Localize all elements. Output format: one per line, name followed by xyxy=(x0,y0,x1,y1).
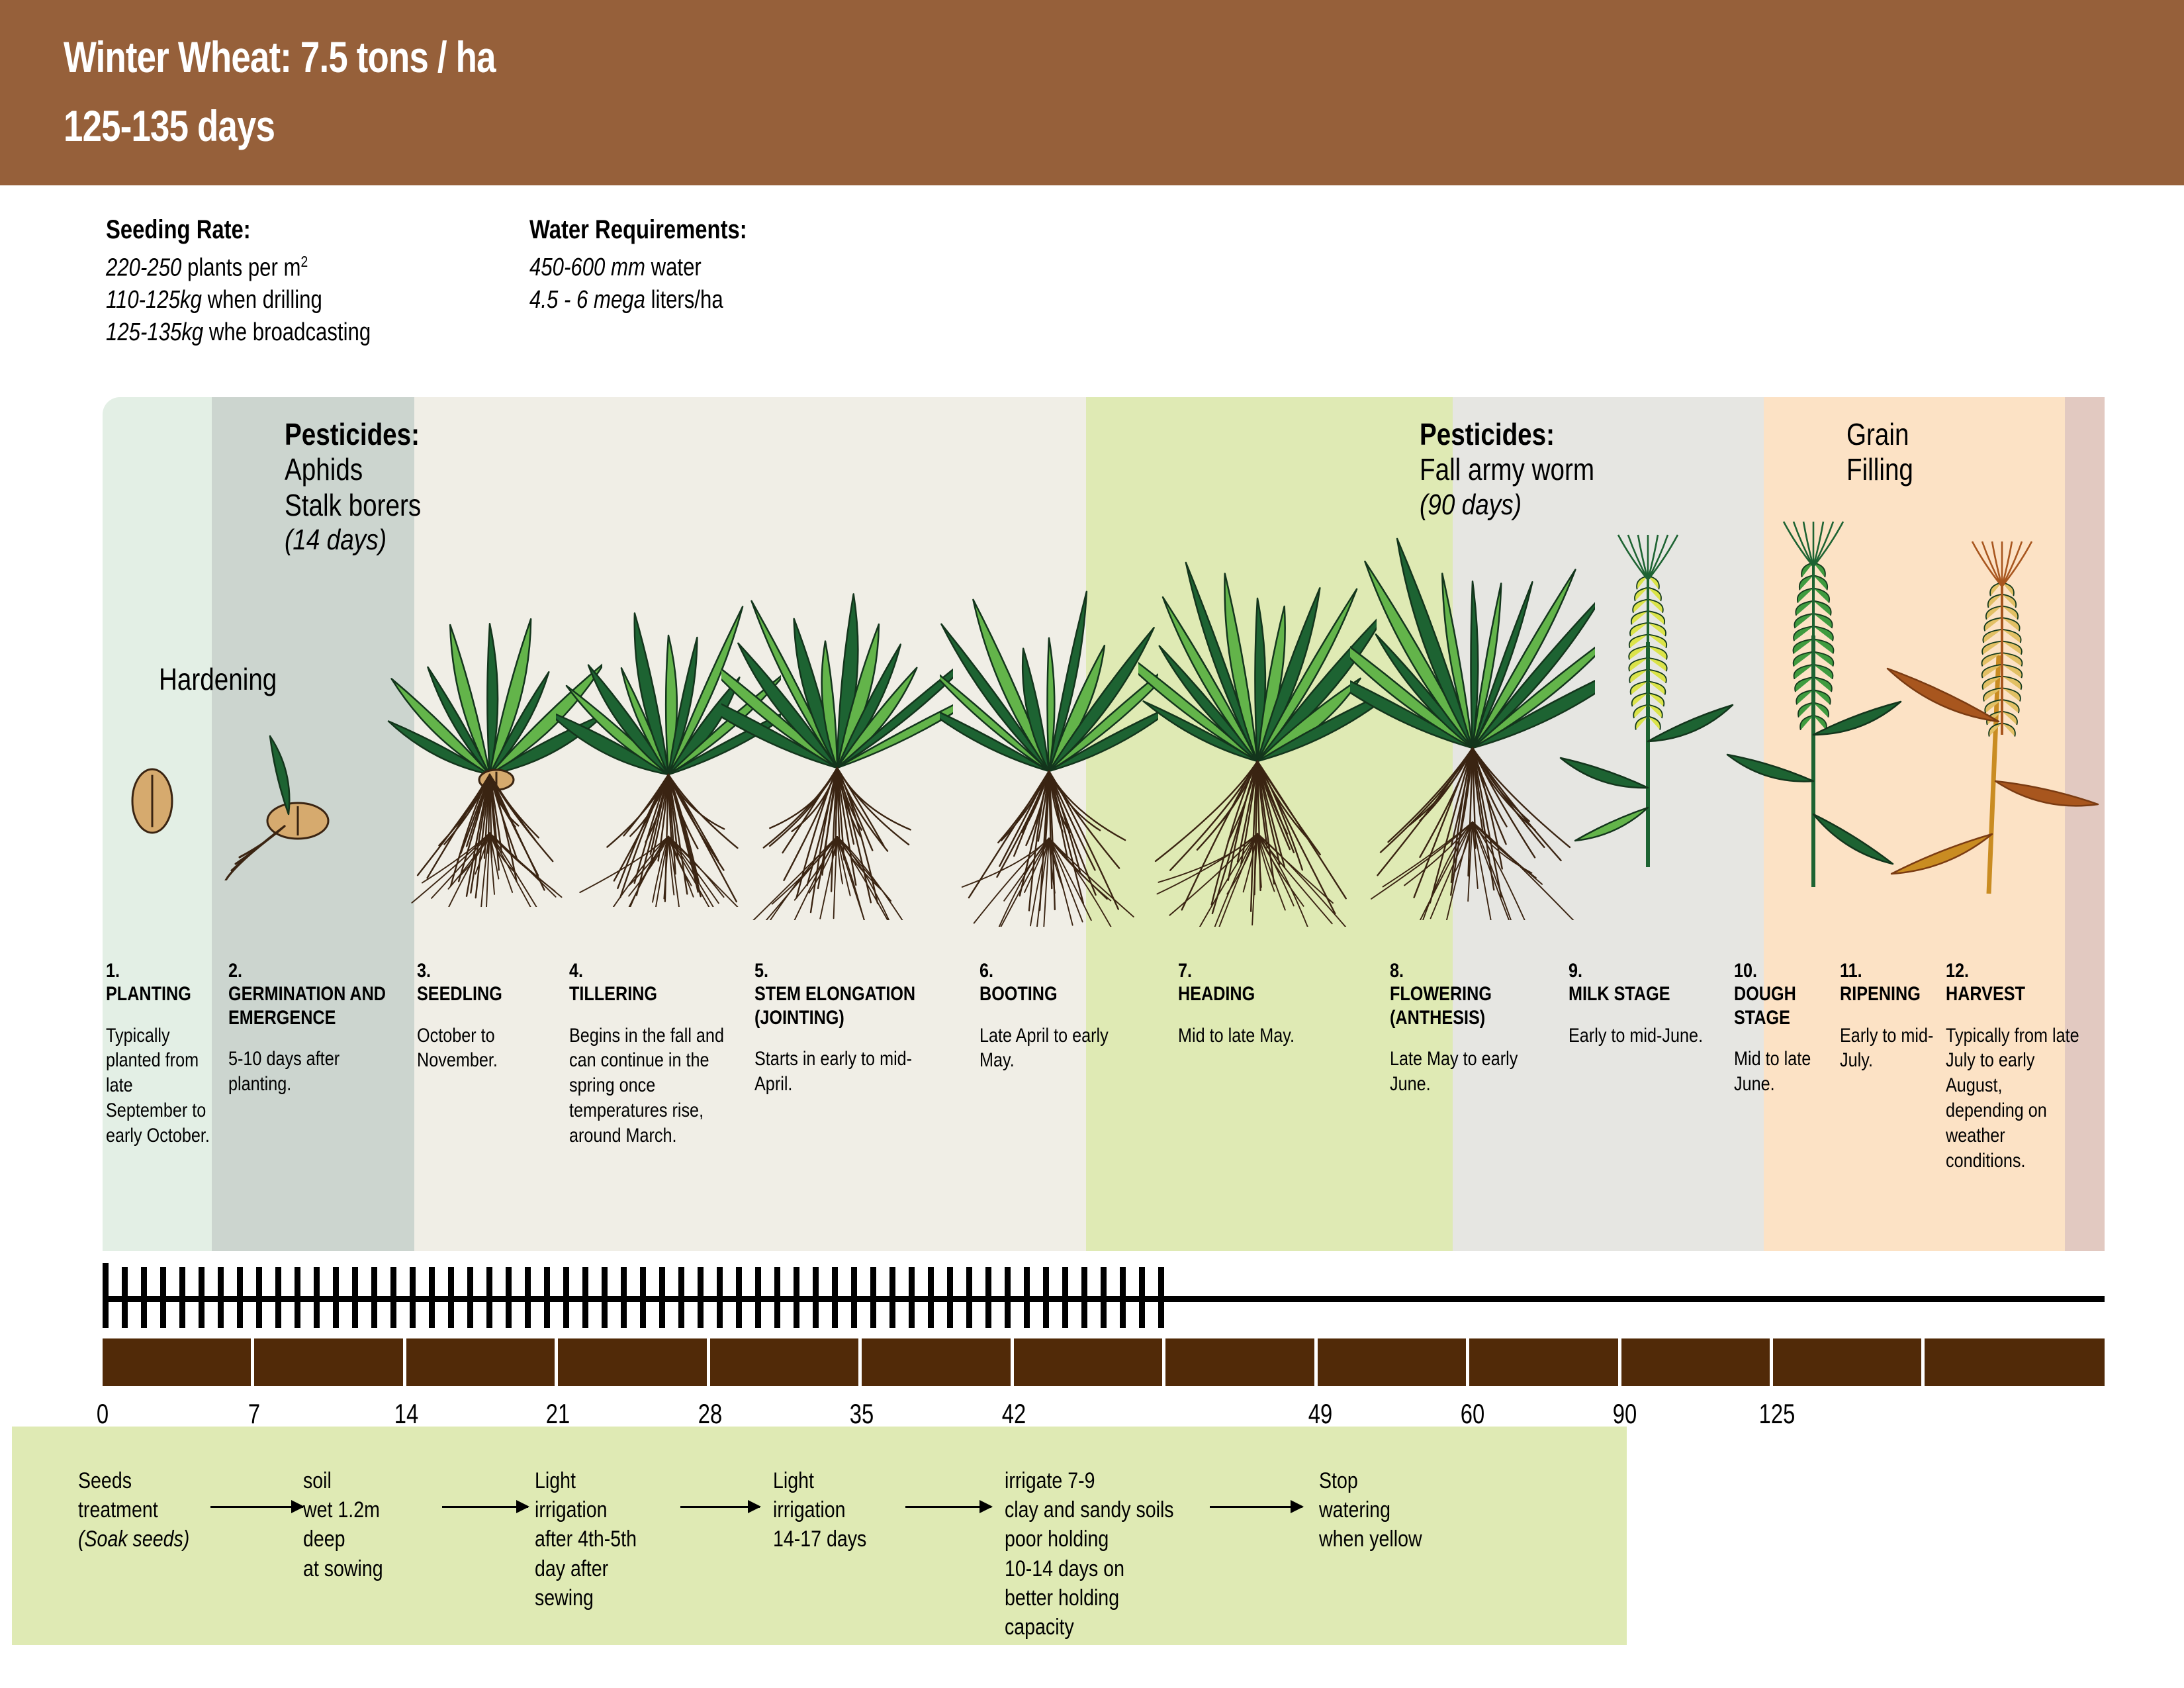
ruler-tick xyxy=(1043,1267,1049,1297)
stage-description: Early to mid-July. xyxy=(1840,1023,1942,1074)
seeding-rate-title: Seeding Rate: xyxy=(106,215,371,245)
ruler-tick xyxy=(602,1267,608,1297)
ruler-tick xyxy=(141,1267,147,1297)
hardening-label: Hardening xyxy=(159,662,277,697)
ruler-tick xyxy=(889,1300,895,1328)
stage-name: BOOTING xyxy=(979,982,1145,1006)
flow-arrow-icon xyxy=(905,1506,991,1508)
wheat-heading-illustration xyxy=(1138,530,1377,927)
ruler-tick xyxy=(678,1267,684,1297)
ruler-tick xyxy=(141,1300,147,1328)
ruler-tick xyxy=(985,1300,991,1328)
annotation-pesticides-early: Pesticides: Aphids Stalk borers (14 days… xyxy=(285,417,447,557)
ruler-tick xyxy=(275,1267,281,1297)
stage-description: Late April to early May. xyxy=(979,1023,1145,1074)
flow-step-line: irrigate 7-9 xyxy=(1005,1466,1174,1495)
ruler-tick xyxy=(199,1267,205,1297)
stage-description: Early to mid-June. xyxy=(1569,1023,1721,1049)
ruler-tick xyxy=(218,1267,224,1297)
ruler-tick xyxy=(352,1267,358,1297)
stage-name: HEADING xyxy=(1178,982,1363,1006)
ruler-tick xyxy=(160,1300,166,1328)
stage-name: FLOWERING (ANTHESIS) xyxy=(1390,982,1552,1029)
flow-step-line: when yellow xyxy=(1319,1524,1422,1554)
flow-arrow-icon xyxy=(210,1506,303,1508)
water-requirements-block: Water Requirements: 450-600 mm water4.5 … xyxy=(529,215,795,316)
ruler-tick xyxy=(218,1300,224,1328)
stage-description: Begins in the fall and can continue in t… xyxy=(569,1023,735,1149)
ruler-tick xyxy=(1024,1300,1030,1328)
wheat-seed-illustration xyxy=(113,748,192,854)
ruler-tick xyxy=(794,1300,799,1328)
ruler-tick xyxy=(1081,1300,1087,1328)
water-requirements-title: Water Requirements: xyxy=(529,215,747,245)
stage-number: 6. xyxy=(979,960,1145,982)
ruler-tick xyxy=(275,1300,281,1328)
stage-name: GERMINATION AND EMERGENCE xyxy=(228,982,394,1029)
flow-step-line: better holding xyxy=(1005,1583,1174,1613)
ruler-tick xyxy=(506,1267,512,1297)
ruler-tick xyxy=(314,1300,320,1328)
ruler-tick xyxy=(1005,1267,1011,1297)
ruler-tick xyxy=(563,1267,569,1297)
ruler-tick xyxy=(602,1300,608,1328)
ruler-tick xyxy=(467,1267,473,1297)
stage-column: 10.DOUGH STAGEMid to late June. xyxy=(1734,960,1852,1097)
ruler-tick xyxy=(544,1300,550,1328)
flow-step-line: soil xyxy=(303,1466,383,1495)
axis-tick-label: 49 xyxy=(1308,1398,1332,1430)
stage-column: 5.STEM ELONGATION (JOINTING)Starts in ea… xyxy=(754,960,983,1097)
ruler-tick xyxy=(717,1300,723,1328)
ruler-tick xyxy=(870,1300,876,1328)
ruler-tick xyxy=(525,1267,531,1297)
grain-filling-line2: Filling xyxy=(1846,452,1913,487)
ruler-tick xyxy=(1120,1267,1126,1297)
ruler-tick xyxy=(179,1267,185,1297)
ruler-tick xyxy=(295,1267,300,1297)
seeding-rate-lines: 220-250 plants per m2110-125kg when dril… xyxy=(106,252,429,349)
ruler-tick xyxy=(1081,1267,1087,1297)
ruler-tick xyxy=(486,1267,492,1297)
pesticides-early-title: Pesticides: xyxy=(285,417,421,452)
ruler-tick xyxy=(333,1300,339,1328)
stage-name: MILK STAGE xyxy=(1569,982,1721,1006)
stage-description: Starts in early to mid-April. xyxy=(754,1047,946,1097)
timeline-segment xyxy=(710,1338,858,1386)
ruler-tick xyxy=(256,1267,262,1297)
ruler-tick xyxy=(928,1300,934,1328)
ruler-tick xyxy=(1101,1300,1107,1328)
ruler-tick xyxy=(966,1267,972,1297)
header-banner: Winter Wheat: 7.5 tons / ha 125-135 days xyxy=(0,0,2184,185)
ruler-tick xyxy=(851,1267,857,1297)
stage-column: 7.HEADINGMid to late May. xyxy=(1178,960,1398,1048)
stage-name: TILLERING xyxy=(569,982,735,1006)
flow-step-line: day after xyxy=(535,1554,637,1583)
axis-tick-label: 35 xyxy=(850,1398,874,1430)
spec-line: 220-250 plants per m2 xyxy=(106,252,371,284)
stage-column: 3.SEEDLINGOctober to November. xyxy=(417,960,586,1073)
spec-line: 450-600 mm water xyxy=(529,252,747,284)
pesticides-early-item1: Aphids xyxy=(285,452,421,487)
ruler-tick xyxy=(448,1267,454,1297)
timeline-segment xyxy=(406,1338,555,1386)
ruler-tick xyxy=(1062,1267,1068,1297)
seeding-rate-block: Seeding Rate: 220-250 plants per m2110-1… xyxy=(106,215,429,349)
stage-number: 2. xyxy=(228,960,394,982)
ruler-tick xyxy=(1139,1300,1145,1328)
ruler-tick xyxy=(717,1267,723,1297)
ruler-tick xyxy=(909,1300,915,1328)
stage-number: 3. xyxy=(417,960,559,982)
ruler-tick xyxy=(659,1267,665,1297)
ruler-tick xyxy=(621,1300,627,1328)
ruler-tick xyxy=(1158,1300,1164,1328)
ruler-tick xyxy=(1158,1267,1164,1297)
ruler-tick xyxy=(448,1300,454,1328)
ruler-tick xyxy=(467,1300,473,1328)
pesticides-late-item1: Fall army worm xyxy=(1420,452,1594,487)
ruler-tick xyxy=(237,1267,243,1297)
spec-line: 110-125kg when drilling xyxy=(106,284,371,316)
ruler-tick xyxy=(889,1267,895,1297)
irrigation-flow-panel: Seedstreatment(Soak seeds)soilwet 1.2mde… xyxy=(12,1427,1627,1645)
stage-description: Mid to late June. xyxy=(1734,1047,1833,1097)
flow-step-line: after 4th-5th xyxy=(535,1524,637,1554)
ruler-tick xyxy=(774,1267,780,1297)
stage-description: Mid to late May. xyxy=(1178,1023,1363,1049)
timeline-segment xyxy=(1925,1338,2105,1386)
flow-step-line: sewing xyxy=(535,1583,637,1613)
pesticides-early-item2: Stalk borers xyxy=(285,488,421,523)
ruler-tick xyxy=(160,1267,166,1297)
stage-number: 12. xyxy=(1946,960,2085,982)
axis-tick-label: 125 xyxy=(1759,1398,1796,1430)
ruler-tick xyxy=(755,1300,761,1328)
flow-step-line: clay and sandy soils xyxy=(1005,1495,1174,1524)
annotation-hardening: Hardening xyxy=(159,662,299,697)
ruler-tick xyxy=(1120,1300,1126,1328)
timeline-segment xyxy=(1621,1338,1770,1386)
ruler-tick xyxy=(199,1300,205,1328)
stage-description: Late May to early June. xyxy=(1390,1047,1552,1097)
wheat-stem-elongation-illustration xyxy=(721,549,953,920)
flow-step-line: irrigation xyxy=(535,1495,637,1524)
flow-step-line: Light xyxy=(535,1466,637,1495)
axis-tick-label: 60 xyxy=(1461,1398,1484,1430)
ruler-tick xyxy=(966,1300,972,1328)
flow-step-line: irrigation xyxy=(773,1495,866,1524)
wheat-booting-illustration xyxy=(940,556,1158,927)
stage-name: SEEDLING xyxy=(417,982,559,1006)
ruler-tick xyxy=(333,1267,339,1297)
ruler-tick xyxy=(563,1300,569,1328)
timeline-ruler: 071421283542496090125 xyxy=(103,1258,2108,1410)
stage-name: RIPENING xyxy=(1840,982,1942,1006)
stage-column: 11.RIPENINGEarly to mid-July. xyxy=(1840,960,1962,1073)
ruler-tick xyxy=(698,1267,704,1297)
ruler-tick xyxy=(1024,1267,1030,1297)
timeline-segment xyxy=(1014,1338,1162,1386)
timeline-segment xyxy=(558,1338,707,1386)
flow-arrow-icon xyxy=(1210,1506,1302,1508)
ruler-tick xyxy=(256,1300,262,1328)
stage-number: 9. xyxy=(1569,960,1721,982)
ruler-tick xyxy=(755,1267,761,1297)
ruler-tick xyxy=(1005,1300,1011,1328)
ruler-tick xyxy=(640,1267,646,1297)
ruler-tick xyxy=(985,1267,991,1297)
annotation-grain-filling: Grain Filling xyxy=(1846,417,1926,488)
flow-step: Seedstreatment(Soak seeds) xyxy=(78,1466,189,1554)
stage-number: 10. xyxy=(1734,960,1833,982)
ruler-tick xyxy=(486,1300,492,1328)
stage-description: Typically from late July to early August… xyxy=(1946,1023,2085,1174)
ruler-tick xyxy=(621,1267,627,1297)
stage-description: 5-10 days after planting. xyxy=(228,1047,394,1097)
stage-name: PLANTING xyxy=(106,982,218,1006)
flow-step-line: Light xyxy=(773,1466,866,1495)
axis-tick-label: 42 xyxy=(1002,1398,1026,1430)
spec-line: 125-135kg whe broadcasting xyxy=(106,316,371,349)
ruler-tick xyxy=(390,1267,396,1297)
ruler-tick xyxy=(1101,1267,1107,1297)
grain-filling-line1: Grain xyxy=(1846,417,1913,452)
flow-step: Lightirrigation14-17 days xyxy=(773,1466,866,1554)
wheat-harvest-illustration xyxy=(1873,503,2111,914)
stage-number: 5. xyxy=(754,960,946,982)
ruler-tick xyxy=(237,1300,243,1328)
timeline-segment xyxy=(1773,1338,1921,1386)
stage-column: 9.MILK STAGEEarly to mid-June. xyxy=(1569,960,1750,1048)
flow-step-line: capacity xyxy=(1005,1613,1174,1642)
flow-step-note: (Soak seeds) xyxy=(78,1524,189,1554)
ruler-tick xyxy=(122,1300,128,1328)
ruler-tick xyxy=(390,1300,396,1328)
ruler-tick xyxy=(103,1263,109,1301)
stage-column: 1.PLANTINGTypically planted from late Se… xyxy=(106,960,240,1149)
stage-name: HARVEST xyxy=(1946,982,2085,1006)
ruler-tick xyxy=(1139,1267,1145,1297)
axis-tick-label: 14 xyxy=(394,1398,418,1430)
ruler-tick xyxy=(314,1267,320,1297)
page-title: Winter Wheat: 7.5 tons / ha xyxy=(64,32,496,83)
stage-column: 6.BOOTINGLate April to early May. xyxy=(979,960,1177,1073)
stage-number: 1. xyxy=(106,960,218,982)
ruler-tick xyxy=(794,1267,799,1297)
flow-step-line: Seeds xyxy=(78,1466,189,1495)
stage-number: 8. xyxy=(1390,960,1552,982)
ruler-tick xyxy=(947,1300,953,1328)
ruler-tick xyxy=(928,1267,934,1297)
flow-step-line: Stop xyxy=(1319,1466,1422,1495)
flow-step: soilwet 1.2mdeepat sowing xyxy=(303,1466,383,1583)
pesticides-late-title: Pesticides: xyxy=(1420,417,1594,452)
ruler-tick xyxy=(909,1267,915,1297)
ruler-tick xyxy=(544,1267,550,1297)
spec-line: 4.5 - 6 mega liters/ha xyxy=(529,284,747,316)
stage-number: 7. xyxy=(1178,960,1363,982)
axis-tick-label: 28 xyxy=(698,1398,722,1430)
pesticides-late-duration: (90 days) xyxy=(1420,488,1594,522)
flow-step-line: treatment xyxy=(78,1495,189,1524)
ruler-tick xyxy=(947,1267,953,1297)
ruler-tick xyxy=(870,1267,876,1297)
ruler-tick xyxy=(179,1300,185,1328)
pesticides-early-duration: (14 days) xyxy=(285,523,421,557)
flow-step-line: poor holding xyxy=(1005,1524,1174,1554)
flow-step-line: at sowing xyxy=(303,1554,383,1583)
timeline-segment xyxy=(103,1338,251,1386)
page-subtitle: 125-135 days xyxy=(64,101,275,151)
ruler-tick xyxy=(851,1300,857,1328)
ruler-tick xyxy=(429,1267,435,1297)
ruler-tick xyxy=(659,1300,665,1328)
stage-number: 4. xyxy=(569,960,735,982)
stage-description: Typically planted from late September to… xyxy=(106,1023,218,1149)
ruler-tick xyxy=(103,1300,109,1328)
ruler-tick xyxy=(410,1267,416,1297)
flow-arrow-icon xyxy=(680,1506,760,1508)
axis-tick-label: 0 xyxy=(97,1398,109,1430)
ruler-tick xyxy=(832,1300,838,1328)
timeline-segment xyxy=(862,1338,1011,1386)
ruler-tick xyxy=(295,1300,300,1328)
ruler-tick xyxy=(371,1300,377,1328)
ruler-tick xyxy=(410,1300,416,1328)
timeline-segment xyxy=(1318,1338,1466,1386)
stage-name: DOUGH STAGE xyxy=(1734,982,1833,1029)
ruler-tick xyxy=(506,1300,512,1328)
ruler-tick xyxy=(640,1300,646,1328)
flow-arrow-icon xyxy=(442,1506,528,1508)
flow-step-line: deep xyxy=(303,1524,383,1554)
ruler-tick xyxy=(582,1267,588,1297)
stage-description: October to November. xyxy=(417,1023,559,1074)
stage-number: 11. xyxy=(1840,960,1942,982)
ruler-tick xyxy=(813,1300,819,1328)
flow-step-line: watering xyxy=(1319,1495,1422,1524)
ruler-tick xyxy=(122,1267,128,1297)
stage-column: 12.HARVESTTypically from late July to ea… xyxy=(1946,960,2111,1173)
axis-tick-label: 21 xyxy=(546,1398,570,1430)
flow-step: Stopwateringwhen yellow xyxy=(1319,1466,1422,1554)
water-requirements-lines: 450-600 mm water4.5 - 6 mega liters/ha xyxy=(529,252,795,316)
timeline-segment xyxy=(1469,1338,1618,1386)
ruler-tick xyxy=(736,1300,742,1328)
ruler-tick xyxy=(371,1267,377,1297)
timeline-segment xyxy=(254,1338,403,1386)
flow-step-line: wet 1.2m xyxy=(303,1495,383,1524)
flow-step: irrigate 7-9clay and sandy soilspoor hol… xyxy=(1005,1466,1174,1642)
timeline-segment xyxy=(1165,1338,1314,1386)
ruler-tick xyxy=(678,1300,684,1328)
axis-tick-label: 90 xyxy=(1613,1398,1637,1430)
stage-column: 2.GERMINATION AND EMERGENCE5-10 days aft… xyxy=(228,960,426,1097)
annotation-pesticides-late: Pesticides: Fall army worm (90 days) xyxy=(1420,417,1627,522)
ruler-tick xyxy=(429,1300,435,1328)
ruler-tick xyxy=(736,1267,742,1297)
ruler-tick xyxy=(352,1300,358,1328)
flow-step: Lightirrigationafter 4th-5thday aftersew… xyxy=(535,1466,637,1613)
wheat-sprout-illustration xyxy=(218,722,371,880)
flow-step-line: 10-14 days on xyxy=(1005,1554,1174,1583)
axis-tick-label: 7 xyxy=(248,1398,260,1430)
stage-column: 8.FLOWERING (ANTHESIS)Late May to early … xyxy=(1390,960,1583,1097)
stage-name: STEM ELONGATION (JOINTING) xyxy=(754,982,946,1029)
stage-column: 4.TILLERINGBegins in the fall and can co… xyxy=(569,960,766,1149)
ruler-tick xyxy=(832,1267,838,1297)
ruler-tick xyxy=(1043,1300,1049,1328)
ruler-tick xyxy=(1062,1300,1068,1328)
ruler-tick xyxy=(774,1300,780,1328)
flow-step-line: 14-17 days xyxy=(773,1524,866,1554)
ruler-tick xyxy=(525,1300,531,1328)
ruler-tick xyxy=(698,1300,704,1328)
ruler-tick xyxy=(813,1267,819,1297)
ruler-tick xyxy=(582,1300,588,1328)
